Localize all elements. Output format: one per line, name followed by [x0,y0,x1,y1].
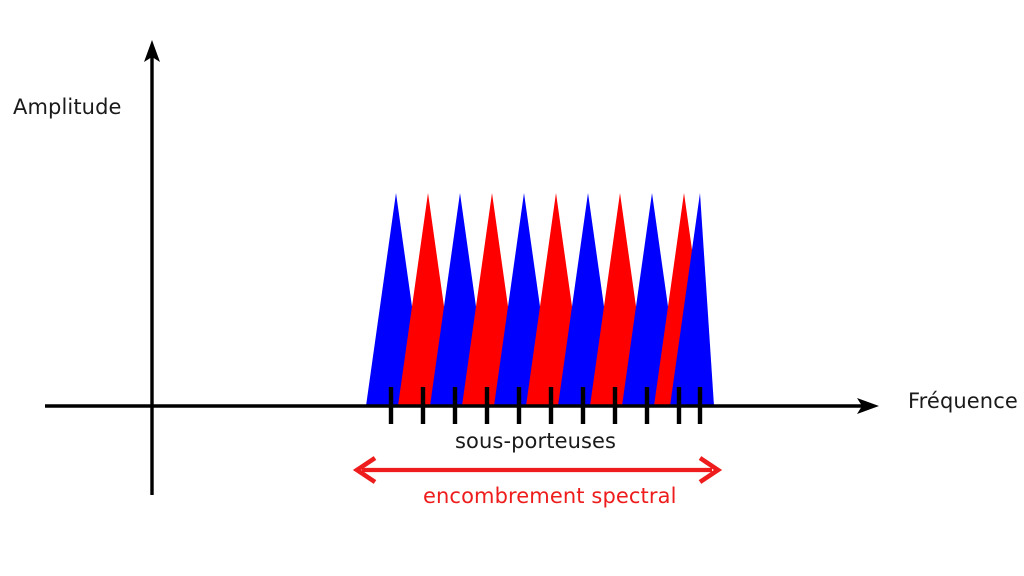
sous-porteuses-label: sous-porteuses [455,429,616,453]
amplitude-axis-label: Amplitude [13,95,122,119]
encombrement-spectral-label: encombrement spectral [423,484,677,508]
spectral-occupancy-arrow [357,458,718,482]
amplitude-axis [144,40,160,495]
subcarrier-triangles-group [366,193,714,406]
diagram-canvas: Amplitude Fréquence sous-porteuses encom… [0,0,1024,576]
frequence-axis-label: Fréquence [908,389,1018,413]
